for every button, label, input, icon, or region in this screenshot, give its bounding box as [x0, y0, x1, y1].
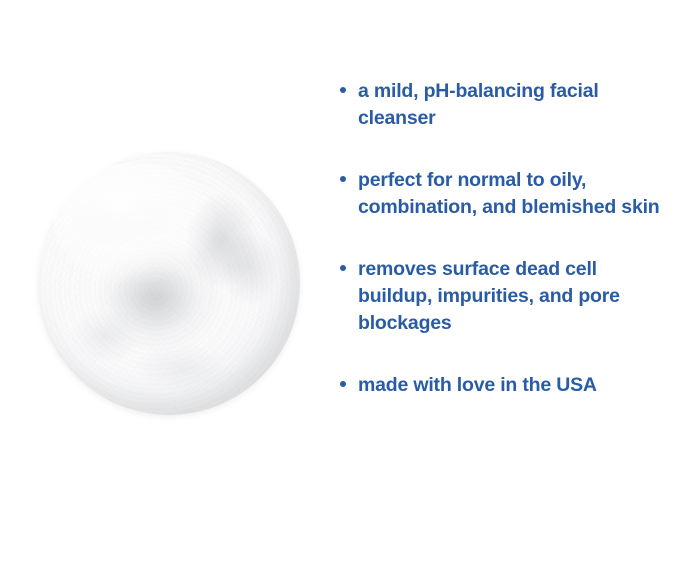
- features-list: a mild, pH-balancing facial cleanser per…: [340, 78, 670, 399]
- list-item: perfect for normal to oily, combination,…: [340, 167, 670, 221]
- bullet-icon: [340, 176, 346, 182]
- list-item: removes surface dead cell buildup, impur…: [340, 256, 670, 337]
- bullet-icon: [340, 381, 346, 387]
- features-panel: a mild, pH-balancing facial cleanser per…: [330, 0, 679, 580]
- product-image-panel: [0, 0, 330, 580]
- feature-text: a mild, pH-balancing facial cleanser: [358, 78, 670, 132]
- feature-text: removes surface dead cell buildup, impur…: [358, 256, 670, 337]
- powder-texture-overlay: [38, 152, 300, 415]
- feature-text: perfect for normal to oily, combination,…: [358, 167, 670, 221]
- product-feature-panel: a mild, pH-balancing facial cleanser per…: [0, 0, 679, 580]
- feature-text: made with love in the USA: [358, 372, 670, 399]
- bullet-icon: [340, 265, 346, 271]
- powder-rim-shadow-overlay: [38, 152, 300, 415]
- bullet-icon: [340, 87, 346, 93]
- powder-highlight-overlay: [54, 163, 216, 284]
- list-item: made with love in the USA: [340, 372, 670, 399]
- powder-circle-image: [38, 152, 300, 415]
- list-item: a mild, pH-balancing facial cleanser: [340, 78, 670, 132]
